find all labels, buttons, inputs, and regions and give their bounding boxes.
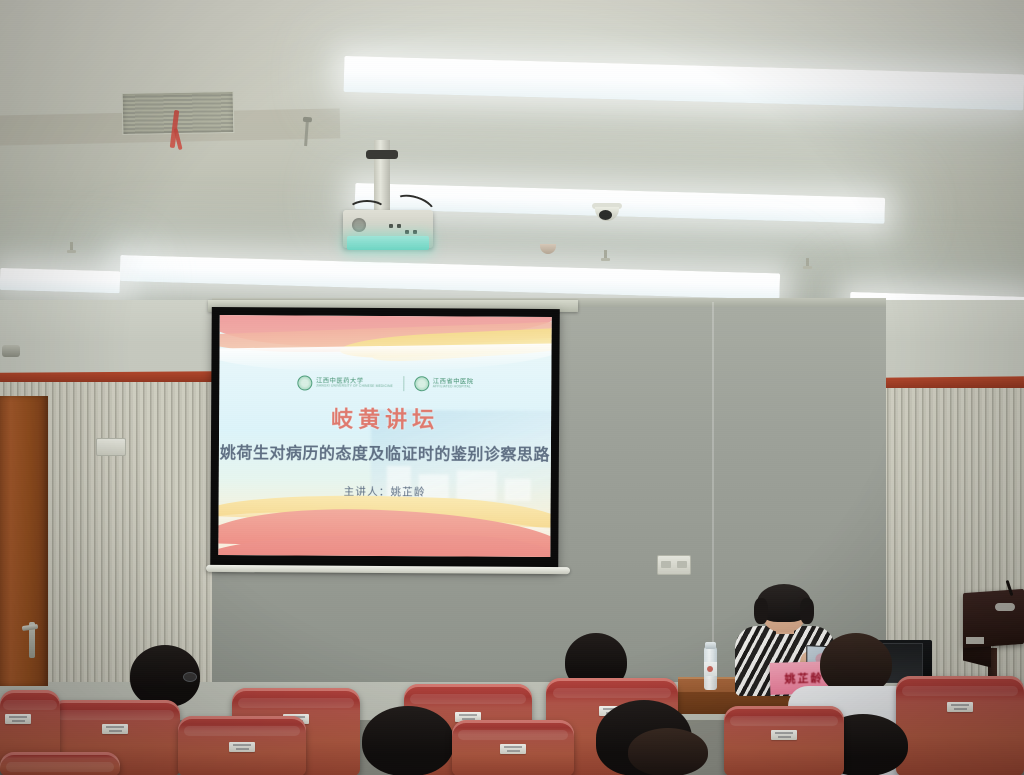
attendee-center bbox=[362, 706, 454, 775]
partition-seam bbox=[712, 302, 714, 682]
seat-number-tag bbox=[102, 724, 128, 734]
sprinkler-head bbox=[70, 242, 73, 251]
slide-logo-row: 江西中医药大学 JIANGXI UNIVERSITY OF CHINESE ME… bbox=[219, 373, 551, 393]
projector-mount-collar bbox=[366, 150, 398, 159]
fluorescent-light-strip-4 bbox=[0, 268, 120, 293]
presentation-slide: 江西中医药大学 JIANGXI UNIVERSITY OF CHINESE ME… bbox=[218, 315, 551, 557]
seat-number-tag bbox=[229, 742, 255, 752]
attendee-glasses bbox=[183, 672, 197, 682]
table-row[interactable] bbox=[178, 716, 306, 775]
projector-indicator-glow bbox=[347, 236, 429, 250]
seat-number-tag bbox=[5, 714, 31, 724]
university-logo-text: 江西中医药大学 JIANGXI UNIVERSITY OF CHINESE ME… bbox=[316, 377, 393, 388]
university-logo-icon bbox=[297, 375, 312, 390]
light-switch-plate[interactable] bbox=[96, 438, 126, 456]
fluorescent-light-strip-1 bbox=[344, 56, 1024, 110]
slide-title: 岐黄讲坛 bbox=[219, 401, 551, 435]
wall-outlet-plate[interactable] bbox=[657, 555, 691, 575]
logo-divider bbox=[403, 376, 404, 391]
projector-lens-icon bbox=[352, 218, 366, 232]
table-row[interactable] bbox=[724, 706, 844, 775]
fluorescent-light-strip-3 bbox=[120, 255, 780, 299]
university-logo: 江西中医药大学 JIANGXI UNIVERSITY OF CHINESE ME… bbox=[297, 375, 393, 391]
lectern-label bbox=[995, 603, 1015, 611]
sprinkler-head bbox=[806, 258, 809, 267]
hospital-logo: 江西省中医院 AFFILIATED HOSPITAL bbox=[414, 376, 474, 391]
slide-wave-white bbox=[218, 343, 551, 375]
ceiling bbox=[0, 0, 1024, 312]
sprinkler-head bbox=[604, 250, 607, 259]
seat-number-tag bbox=[771, 730, 797, 740]
table-row[interactable] bbox=[896, 676, 1024, 775]
seat-number-tag bbox=[947, 702, 973, 712]
table-row[interactable] bbox=[452, 720, 574, 775]
university-logo-subtext: JIANGXI UNIVERSITY OF CHINESE MEDICINE bbox=[316, 384, 393, 388]
bottle-cap bbox=[705, 642, 716, 649]
presenter-name-card-text: 姚芷龄 bbox=[784, 669, 823, 686]
hospital-logo-icon bbox=[414, 376, 429, 391]
side-door[interactable] bbox=[0, 396, 48, 686]
projection-screen: 江西中医药大学 JIANGXI UNIVERSITY OF CHINESE ME… bbox=[210, 307, 560, 571]
hospital-logo-subtext: AFFILIATED HOSPITAL bbox=[433, 385, 474, 389]
hospital-logo-text: 江西省中医院 AFFILIATED HOSPITAL bbox=[433, 378, 474, 389]
slide-subtitle: 姚荷生对病历的态度及临证时的鉴别诊察思路 bbox=[218, 439, 551, 465]
screen-surface: 江西中医药大学 JIANGXI UNIVERSITY OF CHINESE ME… bbox=[218, 315, 551, 557]
lectern-label bbox=[966, 637, 984, 644]
wall-speaker bbox=[2, 345, 20, 357]
dome-security-camera bbox=[595, 207, 619, 221]
attendee-front-cap bbox=[628, 728, 708, 775]
bottle-label bbox=[704, 662, 717, 676]
presenter-hair bbox=[757, 584, 811, 622]
lecture-hall-photo: 江西中医药大学 JIANGXI UNIVERSITY OF CHINESE ME… bbox=[0, 0, 1024, 775]
smoke-detector bbox=[540, 244, 556, 254]
seat-number-tag bbox=[500, 744, 526, 754]
table-row[interactable] bbox=[0, 752, 120, 775]
